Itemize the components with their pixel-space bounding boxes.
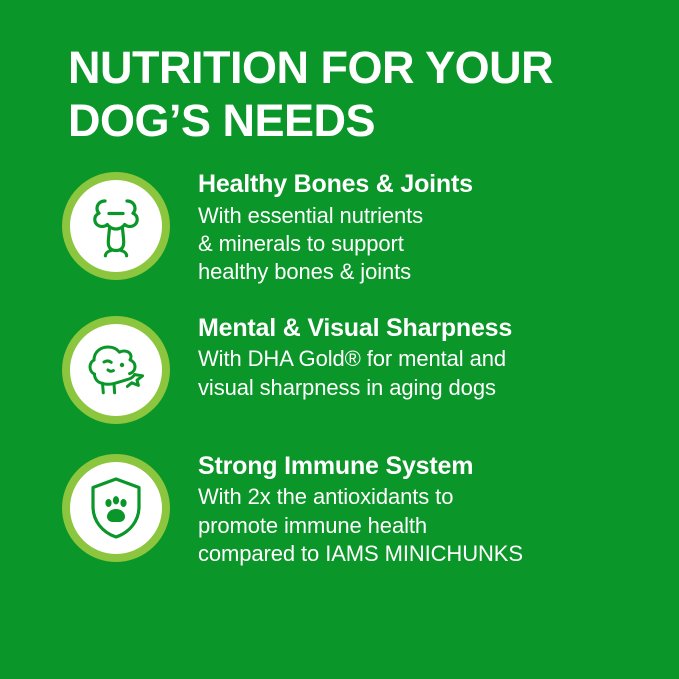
benefits-list: Healthy Bones & Joints With essential nu… [0,168,679,594]
benefit-desc-line: healthy bones & joints [198,258,473,286]
benefit-desc-line: visual sharpness in aging dogs [198,374,512,402]
benefit-description: With 2x the antioxidants to promote immu… [198,483,523,567]
benefit-text-immune: Strong Immune System With 2x the antioxi… [170,450,523,568]
benefit-text-mental-visual: Mental & Visual Sharpness With DHA Gold®… [170,312,512,402]
benefit-desc-line: compared to IAMS MINICHUNKS [198,540,523,568]
benefit-desc-line: & minerals to support [198,230,473,258]
benefit-text-bones-joints: Healthy Bones & Joints With essential nu… [170,168,473,286]
icon-ring [62,316,170,424]
icon-ring [62,172,170,280]
benefit-item-immune: Strong Immune System With 2x the antioxi… [0,450,679,568]
benefit-title: Mental & Visual Sharpness [198,314,512,344]
benefit-item-bones-joints: Healthy Bones & Joints With essential nu… [0,168,679,286]
shield-paw-icon [70,462,162,554]
bone-joint-icon [70,180,162,272]
icon-wrap-mental-visual [62,316,170,424]
benefit-title: Healthy Bones & Joints [198,170,473,200]
benefit-desc-line: promote immune health [198,512,523,540]
benefit-title: Strong Immune System [198,452,523,482]
page-title: NUTRITION FOR YOUR DOG’S NEEDS [68,42,628,147]
promo-panel: NUTRITION FOR YOUR DOG’S NEEDS [0,0,679,679]
benefit-desc-line: With essential nutrients [198,202,473,230]
icon-wrap-bones-joints [62,172,170,280]
dog-head-brain-icon [70,324,162,416]
benefit-desc-line: With 2x the antioxidants to [198,483,523,511]
benefit-description: With DHA Gold® for mental and visual sha… [198,345,512,401]
benefit-desc-line: With DHA Gold® for mental and [198,345,512,373]
icon-wrap-immune [62,454,170,562]
icon-ring [62,454,170,562]
benefit-description: With essential nutrients & minerals to s… [198,202,473,286]
benefit-item-mental-visual: Mental & Visual Sharpness With DHA Gold®… [0,312,679,424]
